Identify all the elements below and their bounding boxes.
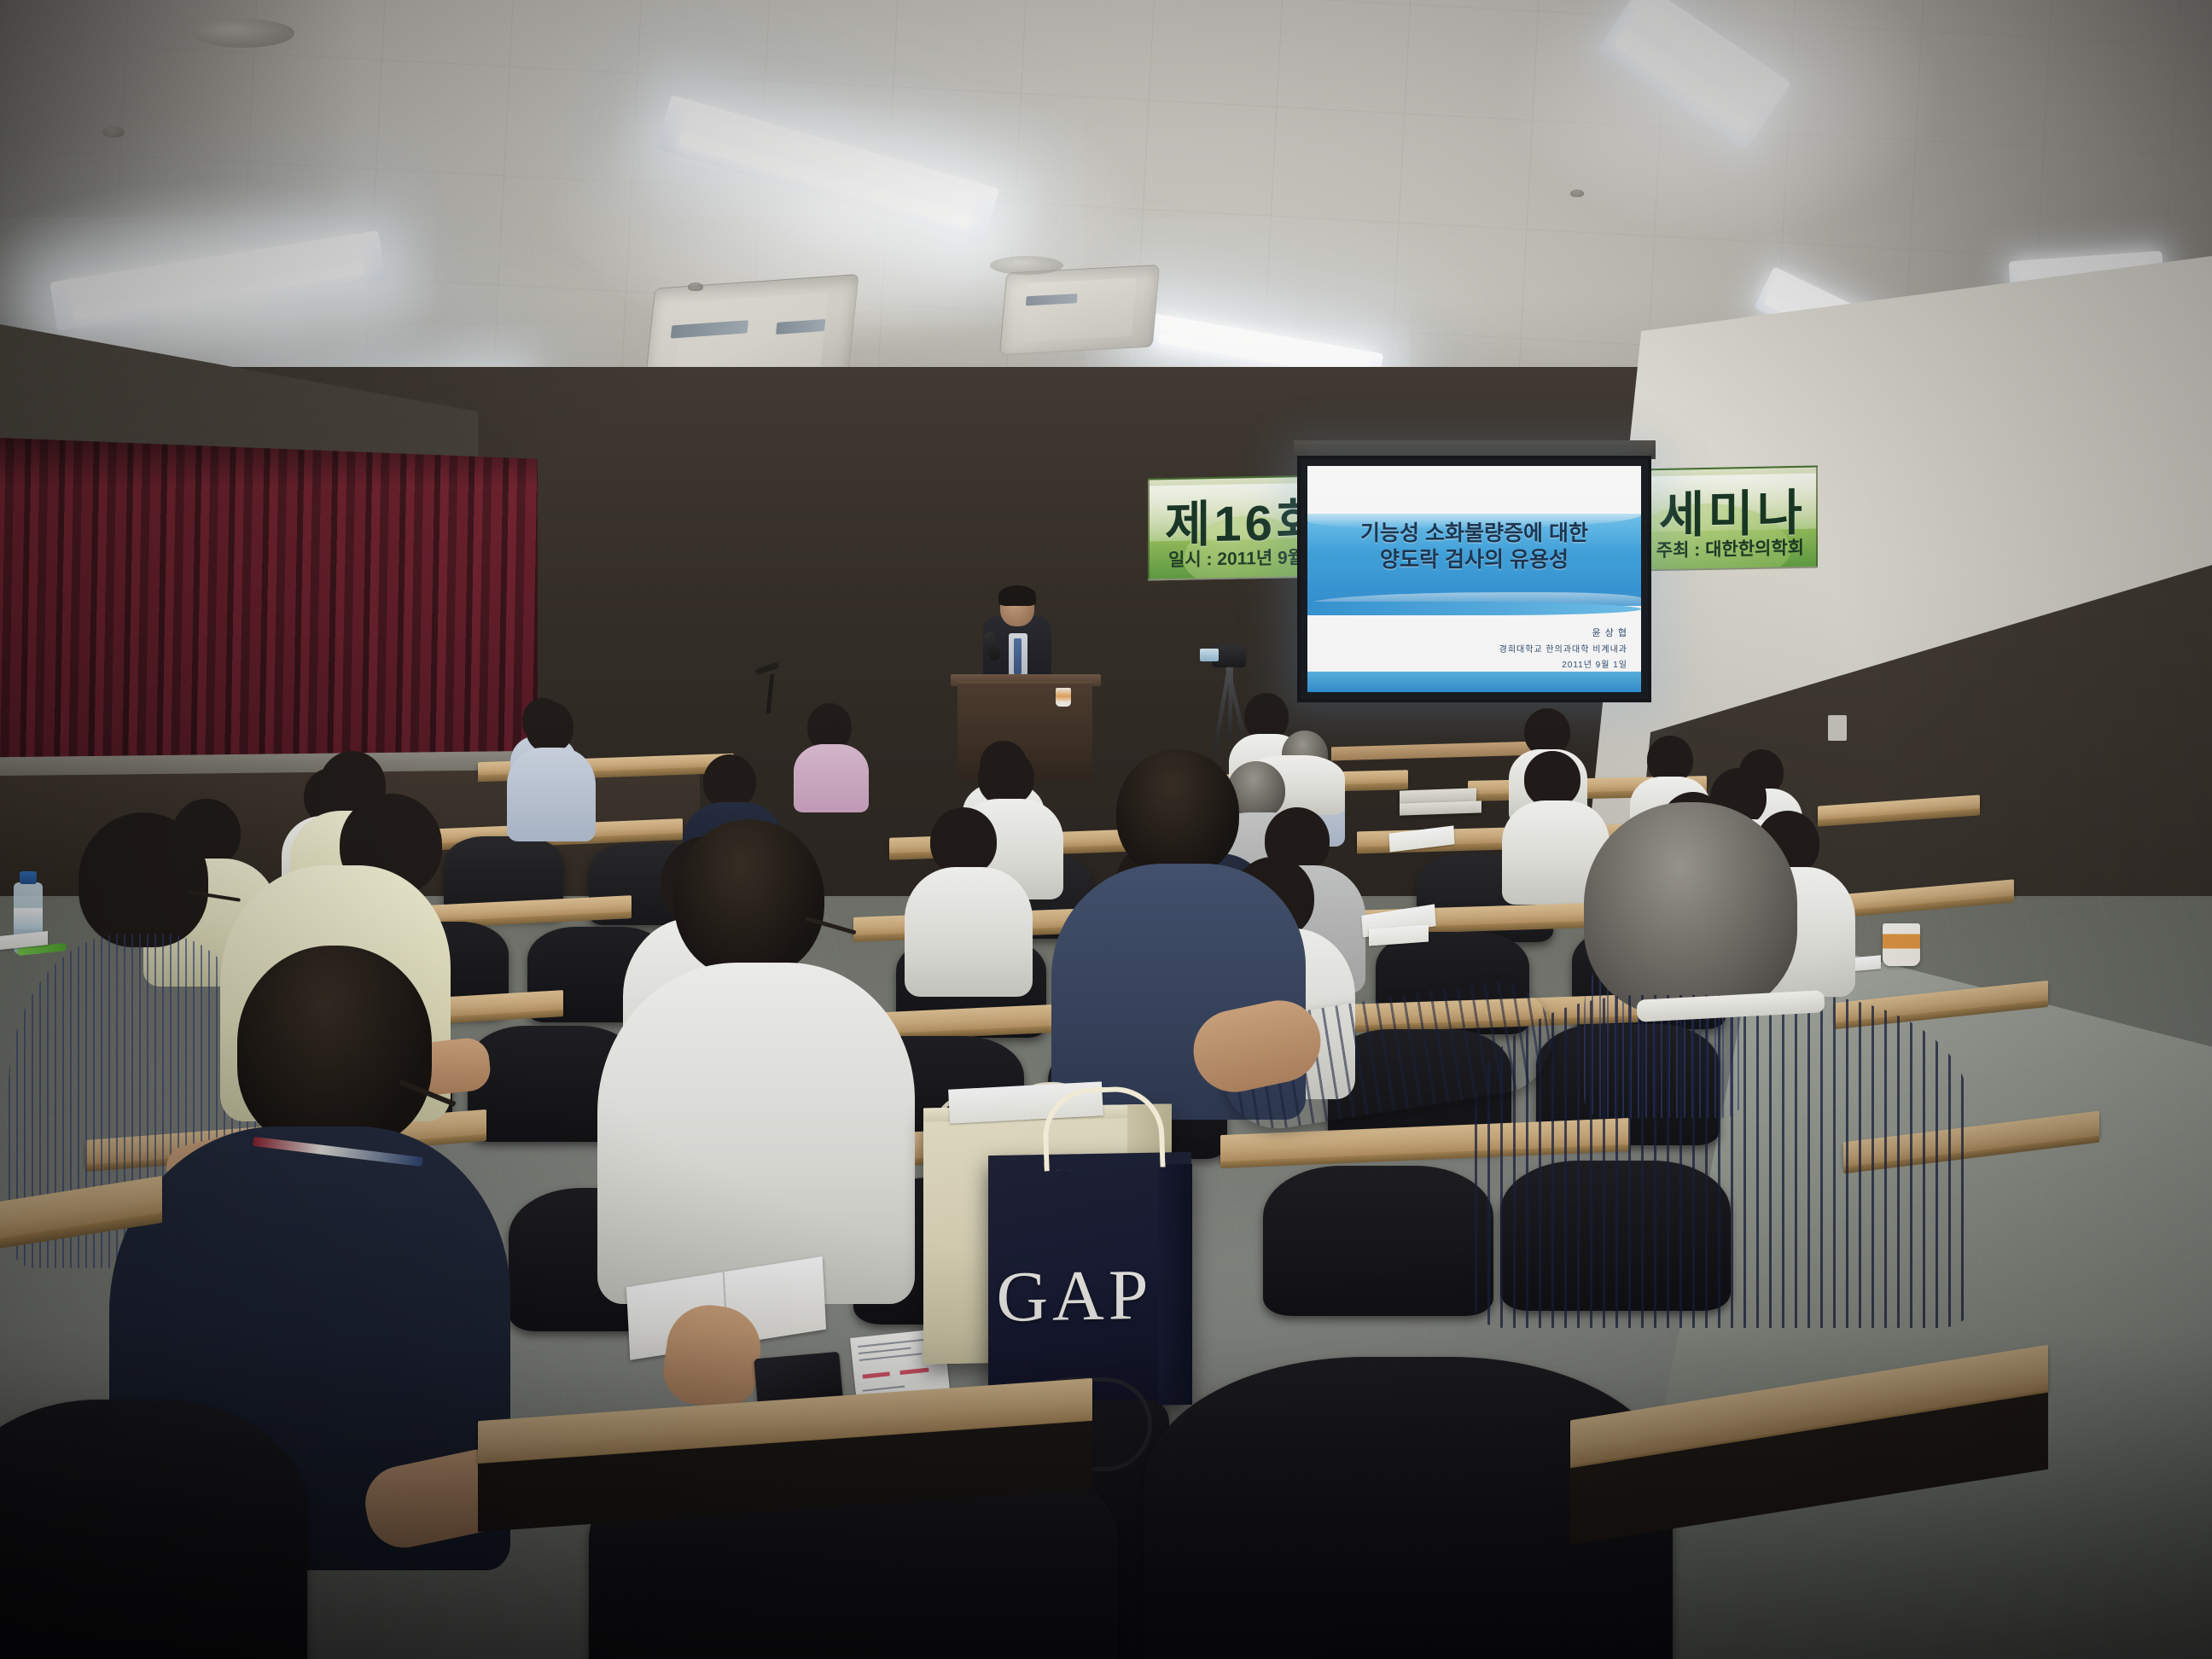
presentation-slide: 기능성 소화불량증에 대한 양도락 검사의 유용성 윤 상 협 경희대학교 한의… xyxy=(1307,466,1641,692)
chair[interactable] xyxy=(1263,1166,1493,1316)
gap-shopping-bag: GAP xyxy=(988,1152,1191,1408)
projection-screen: 기능성 소화불량증에 대한 양도락 검사의 유용성 윤 상 협 경희대학교 한의… xyxy=(1297,456,1651,702)
slide-date: 2011년 9월 1일 xyxy=(1562,657,1627,670)
slide-footer-band xyxy=(1307,672,1641,692)
chair[interactable] xyxy=(0,1400,307,1659)
ceiling-speaker xyxy=(990,256,1063,275)
gap-logo-text: GAP xyxy=(988,1260,1161,1335)
camcorder-screen xyxy=(1200,649,1219,661)
slide-author: 윤 상 협 xyxy=(1592,626,1627,639)
stage-curtain xyxy=(0,427,538,785)
paper-cup xyxy=(1056,688,1071,707)
ceiling-ac-unit xyxy=(999,265,1160,355)
banner-host-text: 주최 : 대한한의학회 xyxy=(1656,534,1804,562)
slide-title: 기능성 소화불량증에 대한 양도락 검사의 유용성 xyxy=(1307,521,1641,574)
wall-switch-plate[interactable] xyxy=(1828,715,1847,741)
paper-coffee-cup xyxy=(1883,923,1920,966)
sprinkler-head xyxy=(688,282,703,291)
banner-date-text: 일시 : 2011년 9월 xyxy=(1168,544,1304,572)
slide-affiliation: 경희대학교 한의과대학 비계내과 xyxy=(1499,642,1627,655)
presenter-tie xyxy=(1014,638,1022,674)
sprinkler-head xyxy=(1570,189,1584,197)
ceiling-speaker xyxy=(192,19,294,48)
slide-title-line2: 양도락 검사의 유용성 xyxy=(1307,547,1641,573)
slide-title-line1: 기능성 소화불량증에 대한 xyxy=(1307,521,1641,547)
sprinkler-head xyxy=(102,126,125,137)
lecture-hall-photo: 제16회 세미나 일시 : 2011년 9월 주최 : 대한한의학회 기능성 소… xyxy=(0,0,2212,1659)
presenter-hair xyxy=(998,585,1036,606)
